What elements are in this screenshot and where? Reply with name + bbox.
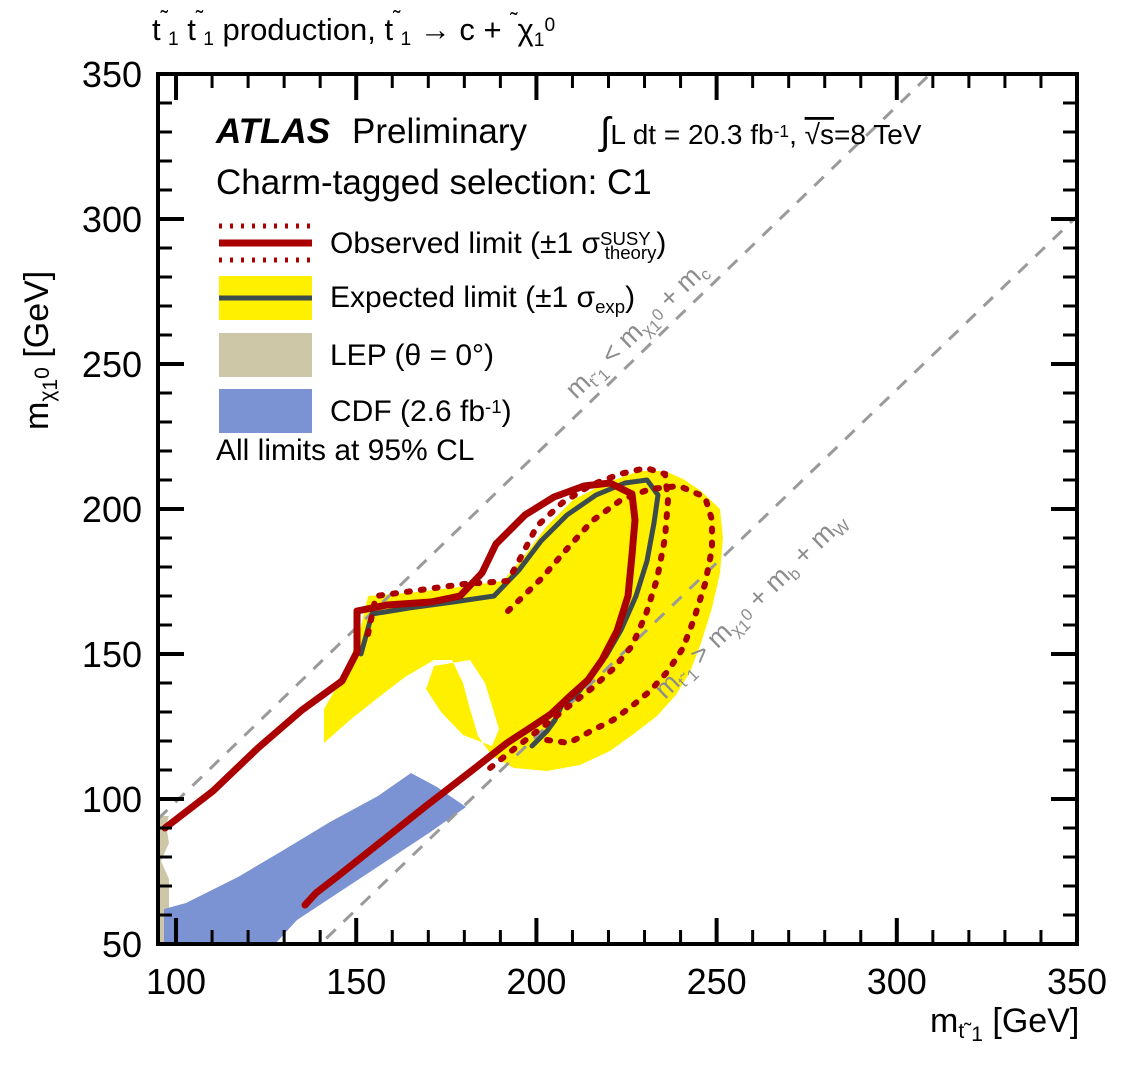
legend-label-lep: LEP (θ = 0°) <box>330 339 494 372</box>
legend-label-expected: Expected limit (±1 σexp) <box>330 281 635 317</box>
legend-swatch-lep[interactable] <box>219 333 312 377</box>
x-tick-label-100: 100 <box>146 961 206 1002</box>
y-tick-label-350: 350 <box>82 54 142 95</box>
y-tick-label-200: 200 <box>82 489 142 530</box>
atlas-label: ATLAS <box>215 112 330 151</box>
legend-label-cdf: CDF (2.6 fb-1) <box>330 395 512 428</box>
legend-cl-note: All limits at 95% CL <box>216 434 474 467</box>
legend-swatch-cdf[interactable] <box>219 389 312 433</box>
y-tick-label-300: 300 <box>82 199 142 240</box>
x-tick-label-250: 250 <box>687 961 747 1002</box>
legend-swatch-expected[interactable] <box>219 276 312 320</box>
x-tick-label-300: 300 <box>867 961 927 1002</box>
exclusion-plot: t˜1 t˜1 production, t˜1 → c + ˜χ10 mt˜1 … <box>0 0 1134 1074</box>
x-tick-label-350: 350 <box>1047 961 1107 1002</box>
y-tick-label-250: 250 <box>82 344 142 385</box>
figure-root: t˜1 t˜1 production, t˜1 → c + ˜χ10 mt˜1 … <box>0 0 1134 1074</box>
preliminary-label: Preliminary <box>352 112 528 151</box>
y-tick-label-50: 50 <box>102 924 142 965</box>
legend-label-observed: Observed limit (±1 σSUSYtheory) <box>330 227 666 263</box>
y-tick-label-150: 150 <box>82 634 142 675</box>
selection-label: Charm-tagged selection: C1 <box>216 163 652 202</box>
x-axis-title: mt˜1 [GeV] <box>930 1002 1079 1046</box>
y-tick-label-100: 100 <box>82 779 142 820</box>
y-axis-title: mχ10 [GeV] <box>18 271 62 430</box>
x-tick-label-200: 200 <box>506 961 566 1002</box>
x-tick-label-150: 150 <box>326 961 386 1002</box>
